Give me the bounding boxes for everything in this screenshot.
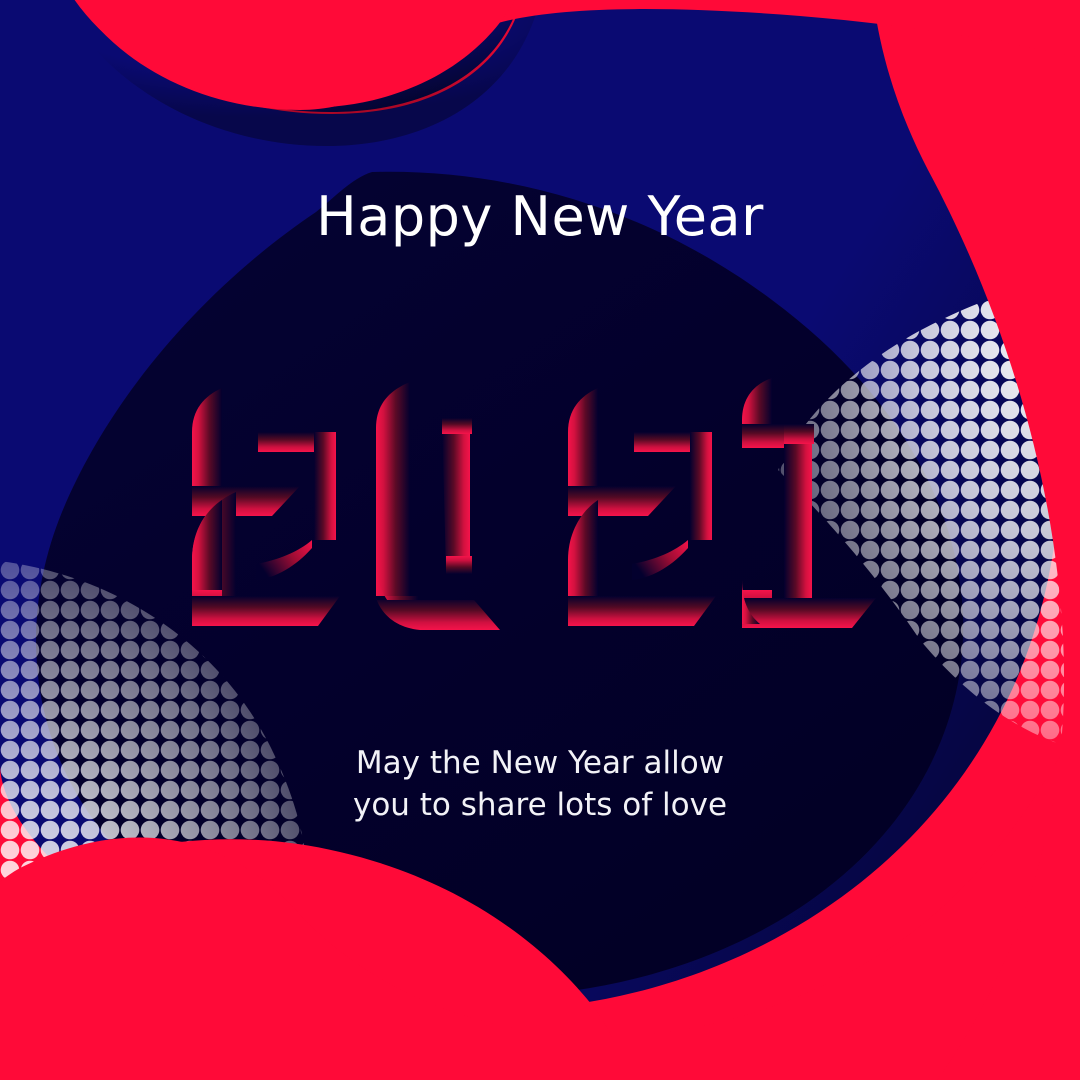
poster-artwork [0,0,1080,1080]
greeting-poster: Happy New Year May the New Year allow yo… [0,0,1080,1080]
